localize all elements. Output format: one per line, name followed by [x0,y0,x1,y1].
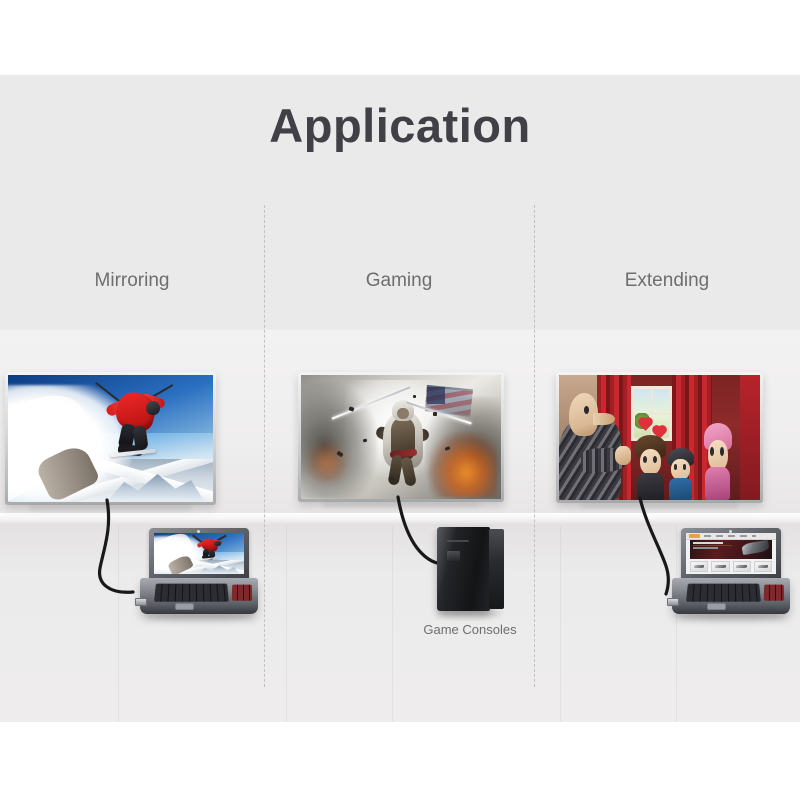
product-webpage-artwork [686,533,775,574]
product-thumbnail[interactable] [690,561,708,572]
laptop-trackpad[interactable] [707,603,726,611]
console-body [437,527,490,611]
laptop-numpad[interactable] [764,585,784,601]
site-nav [704,535,756,537]
column-label-gaming: Gaming [264,270,534,292]
product-thumbnail[interactable] [733,561,751,572]
hdmi-port[interactable] [667,598,679,606]
laptop-mirroring [140,528,258,614]
ski-scene-artwork [8,375,213,502]
laptop-lid [681,528,780,581]
tv-mirroring [5,372,216,505]
game-scene-artwork [301,375,501,499]
site-logo-icon [689,534,700,537]
tv-screen-extending [559,375,760,500]
laptop-numpad[interactable] [232,585,252,601]
laptop-screen-mirroring [154,533,243,574]
tv-gaming [298,372,504,502]
laptop-keyboard[interactable] [154,584,229,602]
column-label-mirroring: Mirroring [0,270,264,292]
game-hero-figure [375,400,431,489]
cartoon-child-small [668,448,694,501]
application-infographic: Application Mirroring Gaming Extending [0,0,800,800]
cartoon-child-pink-hat [704,423,732,501]
product-thumbnail[interactable] [754,561,772,572]
game-console [437,527,505,611]
cartoon-child-glasses [635,435,665,500]
laptop-extending [672,528,790,614]
laptop-base [140,578,258,614]
product-thumbnail-row [690,561,772,572]
cartoon-scene-artwork [559,375,760,500]
ski-scene-artwork-mirrored [154,533,243,574]
laptop-keyboard[interactable] [686,584,761,602]
tv-extending [556,372,763,503]
laptop-screen-extending [686,533,775,574]
cartoon-adult-character [559,393,631,501]
laptop-lid [149,528,248,581]
console-side-panel [489,529,504,610]
page-title: Application [0,98,800,153]
hdmi-port[interactable] [135,598,147,606]
tv-screen-gaming [301,375,501,499]
desk-edge [0,513,800,526]
laptop-trackpad[interactable] [175,603,194,611]
laptop-base [672,578,790,614]
tv-screen-mirroring [8,375,213,502]
product-thumbnail[interactable] [711,561,729,572]
column-label-extending: Extending [534,270,800,292]
console-caption: Game Consoles [380,622,560,637]
skier-figure [104,389,174,463]
